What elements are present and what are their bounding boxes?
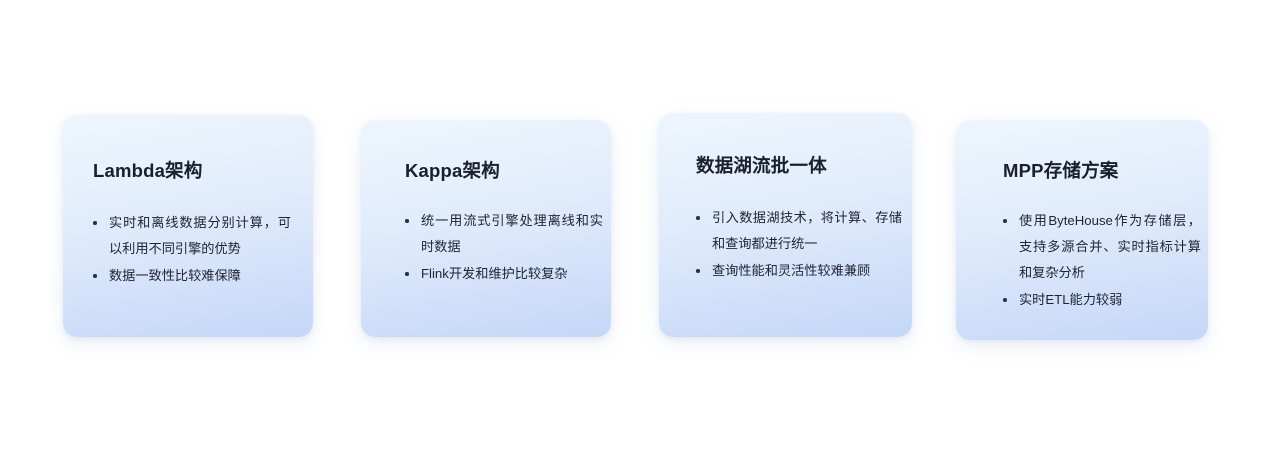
- list-item-text: 实时和离线数据分别计算，可以利用不同引擎的优势: [109, 215, 291, 256]
- list-item: 数据一致性比较难保障: [91, 263, 291, 289]
- card-content: Kappa架构 统一用流式引擎处理离线和实时数据 Flink开发和维护比较复杂: [361, 120, 611, 337]
- list-item: 引入数据湖技术，将计算、存储和查询都进行统一: [694, 205, 902, 257]
- bullet-dot-icon: [405, 219, 409, 223]
- list-item: 查询性能和灵活性较难兼顾: [694, 258, 902, 284]
- card-bullet-list: 实时和离线数据分别计算，可以利用不同引擎的优势 数据一致性比较难保障: [91, 210, 291, 290]
- comparison-cards-container: Lambda架构 实时和离线数据分别计算，可以利用不同引擎的优势 数据一致性比较…: [0, 0, 1280, 472]
- list-item-text: 引入数据湖技术，将计算、存储和查询都进行统一: [712, 210, 902, 251]
- card-title: Kappa架构: [405, 160, 500, 182]
- card-bullet-list: 使用ByteHouse作为存储层，支持多源合并、实时指标计算和复杂分析 实时ET…: [1001, 208, 1201, 314]
- card-title: Lambda架构: [93, 160, 203, 182]
- list-item-text: 数据一致性比较难保障: [109, 268, 241, 283]
- card-title: 数据湖流批一体: [696, 155, 827, 177]
- list-item-text: 查询性能和灵活性较难兼顾: [712, 263, 870, 278]
- bullet-dot-icon: [1003, 298, 1007, 302]
- list-item-text: Flink开发和维护比较复杂: [421, 266, 568, 281]
- card-data-lake-unified[interactable]: 数据湖流批一体 引入数据湖技术，将计算、存储和查询都进行统一 查询性能和灵活性较…: [659, 113, 912, 337]
- card-content: 数据湖流批一体 引入数据湖技术，将计算、存储和查询都进行统一 查询性能和灵活性较…: [659, 113, 912, 337]
- bullet-dot-icon: [696, 216, 700, 220]
- list-item: 实时ETL能力较弱: [1001, 287, 1201, 313]
- list-item-text: 统一用流式引擎处理离线和实时数据: [421, 213, 603, 254]
- card-title: MPP存储方案: [1003, 160, 1119, 182]
- list-item: 使用ByteHouse作为存储层，支持多源合并、实时指标计算和复杂分析: [1001, 208, 1201, 286]
- card-mpp-storage-solution[interactable]: MPP存储方案 使用ByteHouse作为存储层，支持多源合并、实时指标计算和复…: [956, 120, 1208, 340]
- list-item: Flink开发和维护比较复杂: [403, 261, 603, 287]
- list-item-text: 使用ByteHouse作为存储层，支持多源合并、实时指标计算和复杂分析: [1019, 213, 1201, 280]
- card-bullet-list: 引入数据湖技术，将计算、存储和查询都进行统一 查询性能和灵活性较难兼顾: [694, 205, 902, 285]
- bullet-dot-icon: [696, 269, 700, 273]
- bullet-dot-icon: [1003, 219, 1007, 223]
- card-kappa-architecture[interactable]: Kappa架构 统一用流式引擎处理离线和实时数据 Flink开发和维护比较复杂: [361, 120, 611, 337]
- bullet-dot-icon: [93, 221, 97, 225]
- list-item: 统一用流式引擎处理离线和实时数据: [403, 208, 603, 260]
- card-bullet-list: 统一用流式引擎处理离线和实时数据 Flink开发和维护比较复杂: [403, 208, 603, 288]
- bullet-dot-icon: [405, 272, 409, 276]
- list-item: 实时和离线数据分别计算，可以利用不同引擎的优势: [91, 210, 291, 262]
- card-content: Lambda架构 实时和离线数据分别计算，可以利用不同引擎的优势 数据一致性比较…: [63, 115, 313, 337]
- list-item-text: 实时ETL能力较弱: [1019, 292, 1122, 307]
- bullet-dot-icon: [93, 274, 97, 278]
- card-lambda-architecture[interactable]: Lambda架构 实时和离线数据分别计算，可以利用不同引擎的优势 数据一致性比较…: [63, 115, 313, 337]
- card-content: MPP存储方案 使用ByteHouse作为存储层，支持多源合并、实时指标计算和复…: [956, 120, 1208, 340]
